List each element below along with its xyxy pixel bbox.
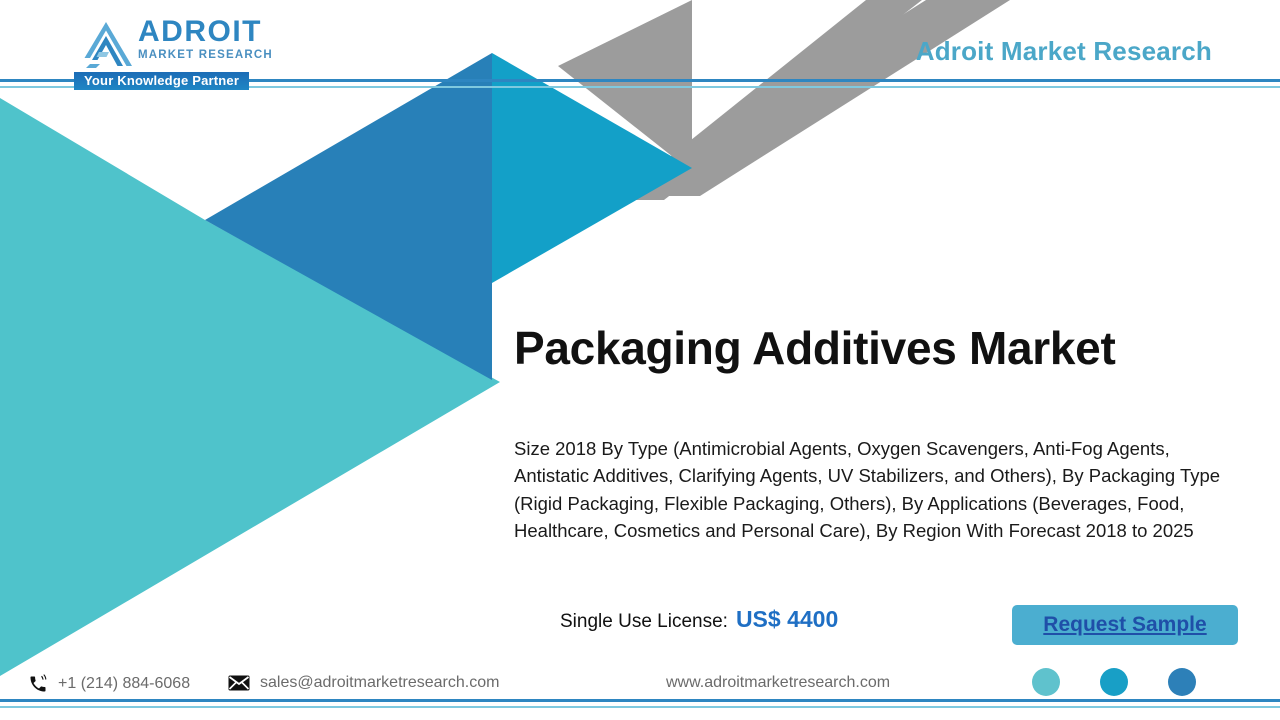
teal-triangle-icon <box>0 98 500 676</box>
adroit-triangle-logo-icon <box>78 20 134 68</box>
blue-triangle-icon <box>205 53 492 380</box>
footer-dots <box>1032 668 1196 696</box>
footer-email-text: sales@adroitmarketresearch.com <box>260 674 499 692</box>
logo-wordmark: ADROIT MARKET RESEARCH <box>138 16 318 62</box>
logo-subname: MARKET RESEARCH <box>138 48 318 62</box>
footer-website-text: www.adroitmarketresearch.com <box>666 674 890 692</box>
dot-light-teal <box>1032 668 1060 696</box>
phone-icon <box>28 674 48 694</box>
page-title: Packaging Additives Market <box>514 323 1214 373</box>
footer-phone[interactable]: +1 (214) 884-6068 <box>28 674 190 694</box>
dot-blue <box>1168 668 1196 696</box>
logo-name: ADROIT <box>138 16 318 48</box>
envelope-icon <box>228 675 250 691</box>
footer-email[interactable]: sales@adroitmarketresearch.com <box>228 674 499 692</box>
gray-band-upper-icon <box>616 0 1010 196</box>
brand-title: Adroit Market Research <box>916 36 1212 67</box>
footer-phone-text: +1 (214) 884-6068 <box>58 675 190 693</box>
license-label: Single Use License: <box>560 611 728 633</box>
footer-website[interactable]: www.adroitmarketresearch.com <box>666 674 890 692</box>
license-price: US$ 4400 <box>736 606 838 633</box>
report-subtitle: Size 2018 By Type (Antimicrobial Agents,… <box>514 435 1236 545</box>
dot-cyan <box>1100 668 1128 696</box>
logo-tagline-badge: Your Knowledge Partner <box>74 72 249 90</box>
gray-band-lower-icon <box>616 0 922 200</box>
request-sample-button[interactable]: Request Sample <box>1012 605 1238 645</box>
report-cover-page: ADROIT MARKET RESEARCH Your Knowledge Pa… <box>0 0 1280 720</box>
license-row: Single Use License: US$ 4400 <box>560 606 838 633</box>
